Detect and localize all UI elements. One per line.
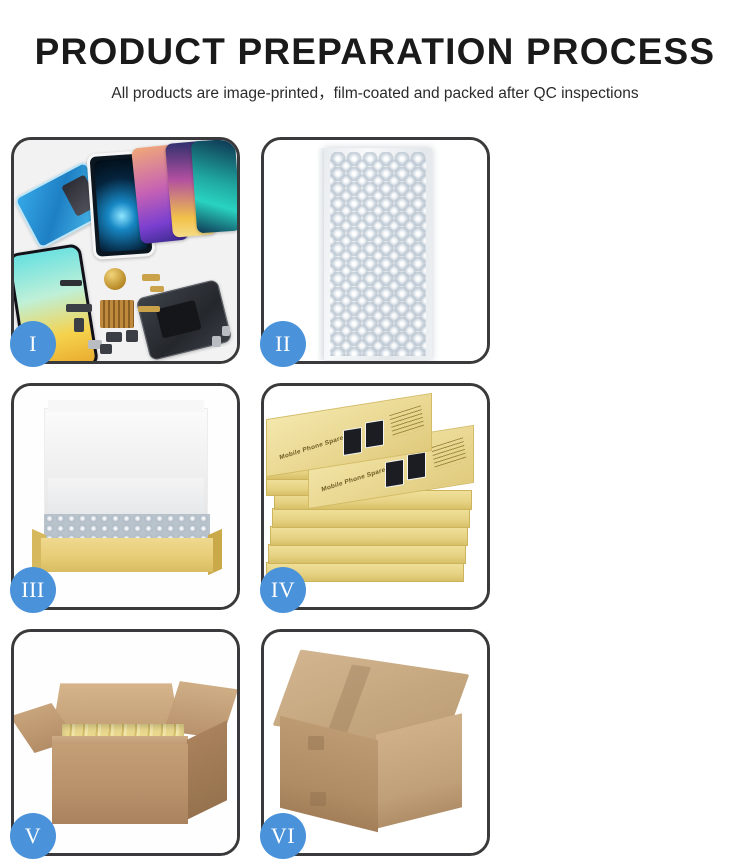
step-badge-3: III [10, 567, 56, 613]
step-badge-1: I [10, 321, 56, 367]
stacked-box [268, 544, 466, 564]
box-artwork-phone-icon [343, 427, 362, 456]
step-badge-4: IV [260, 567, 306, 613]
process-step-card-6[interactable]: VI [261, 629, 490, 856]
step-badge-2: II [260, 321, 306, 367]
spare-part-icon [106, 332, 122, 342]
spare-part-icon [74, 318, 84, 332]
process-step-card-4[interactable]: Mobile Phone Spare Parts Mobile Phone Sp… [261, 383, 490, 610]
bubble-wrap-sheet-icon [324, 148, 432, 360]
spare-part-icon [60, 280, 82, 286]
process-step-card-2[interactable]: II [261, 137, 490, 364]
step-badge-6: VI [260, 813, 306, 859]
step-badge-5: V [10, 813, 56, 859]
screw-part-icon [222, 326, 230, 336]
box-spec-lines [431, 437, 466, 470]
carton-front-panel-icon [52, 744, 188, 824]
page-subtitle: All products are image-printed，film-coat… [0, 83, 750, 105]
page-title: PRODUCT PREPARATION PROCESS [0, 30, 750, 74]
spare-part-icon [150, 286, 164, 292]
process-step-card-5[interactable]: V [11, 629, 240, 856]
box-artwork-phone-icon [407, 451, 426, 480]
carton-side-panel-icon [376, 713, 462, 828]
box-front-panel-icon [41, 538, 213, 572]
box-artwork-phone-icon [385, 459, 404, 488]
spare-part-icon [66, 304, 92, 312]
carton-hand-hole-icon [308, 736, 324, 750]
box-artwork-phone-icon [365, 419, 384, 448]
carton-side-panel-icon [187, 720, 227, 820]
spare-part-icon [126, 330, 138, 342]
carton-hand-hole-icon [310, 792, 326, 806]
stacked-box [270, 526, 468, 546]
process-step-card-3[interactable]: III [11, 383, 240, 610]
teal-gradient-phone-icon [191, 140, 237, 233]
gold-speaker-part-icon [104, 268, 126, 290]
spare-part-icon [100, 344, 112, 354]
spare-part-icon [138, 306, 160, 312]
process-step-card-1[interactable]: I [11, 137, 240, 364]
spare-part-icon [142, 274, 160, 281]
stacked-box [272, 508, 470, 528]
box-spec-lines [389, 405, 424, 438]
process-steps-grid: I II III [11, 137, 739, 856]
screw-part-icon [212, 336, 221, 347]
page-header: PRODUCT PREPARATION PROCESS All products… [0, 0, 750, 105]
connector-grid-part-icon [100, 300, 134, 328]
